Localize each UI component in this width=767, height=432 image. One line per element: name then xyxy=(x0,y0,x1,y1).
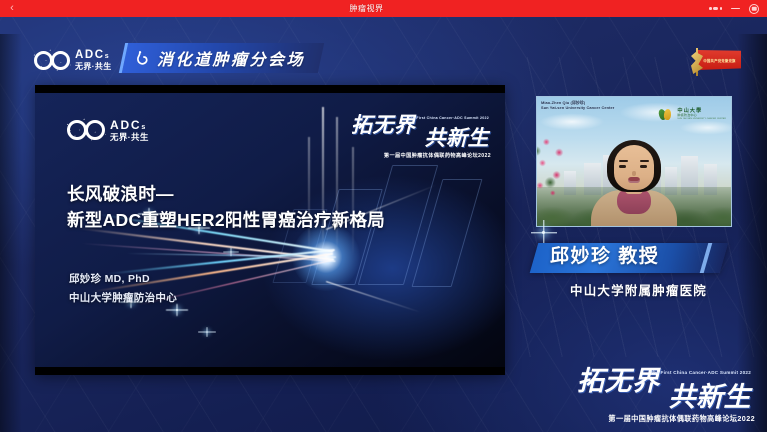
slide-logo-subtitle: 无界·共生 xyxy=(110,133,149,142)
slide-summit-brand: 拓无界 共新生 The First China Cancer·ADC Summi… xyxy=(345,115,491,159)
window-titlebar: ‹ 肿瘤视界 xyxy=(0,0,767,17)
university-name-en: SUN YAT-SEN UNIVERSITY CANCER CENTER xyxy=(677,118,726,121)
back-chevron-icon: ‹ xyxy=(10,3,14,14)
video-name-overlay: Miao-Zhen Qiu (邱妙珍) Sun Yat-sen Universi… xyxy=(541,100,614,111)
session-chip[interactable]: 消化道肿瘤分会场 xyxy=(119,43,324,73)
speaker-video-panel[interactable]: Miao-Zhen Qiu (邱妙珍) Sun Yat-sen Universi… xyxy=(536,96,732,227)
slide-logo-title: ADCs xyxy=(110,119,149,131)
slide-brand-line1: 拓无界 xyxy=(351,115,416,136)
left-vignette xyxy=(0,34,22,432)
infinity-icon xyxy=(34,51,70,70)
slide-speaker-org: 中山大学肿瘤防治中心 xyxy=(69,289,177,308)
more-options-icon[interactable] xyxy=(709,7,722,10)
back-button[interactable]: ‹ xyxy=(0,0,24,17)
event-logo: ADCs 无界·共生 xyxy=(34,50,112,71)
sun-yat-sen-logo-icon: 中山大學 肿瘤防治中心 SUN YAT-SEN UNIVERSITY CANCE… xyxy=(659,107,726,121)
event-header: ADCs 无界·共生 消化道肿瘤分会场 中国共产党党徽党旗 xyxy=(0,17,767,73)
speaker-figure xyxy=(588,142,680,226)
mouse-cursor-icon xyxy=(333,222,340,230)
flag-text: 中国共产党党徽党旗 xyxy=(703,58,735,63)
session-label: 消化道肿瘤分会场 xyxy=(157,46,305,70)
stomach-icon xyxy=(135,50,151,67)
slide-brand-english: The First China Cancer·ADC Summit 2022 xyxy=(408,116,489,120)
slide-speaker-name: 邱妙珍 MD, PhD xyxy=(69,270,177,289)
sparkle-icon xyxy=(542,231,545,234)
event-logo-title: ADCs xyxy=(75,50,112,62)
stage-backdrop: ADCs 无界·共生 消化道肿瘤分会场 中国共产党党徽党旗 xyxy=(0,17,767,432)
slide-brand-subtitle: 第一届中国肿瘤抗体偶联药物高峰论坛2022 xyxy=(345,152,491,159)
slide-brand-line2: 共新生 xyxy=(425,128,490,149)
corner-brand-line1: 拓无界 xyxy=(577,368,660,395)
video-flowers xyxy=(536,133,595,208)
corner-brand-subtitle: 第一届中国肿瘤抗体偶联药物高峰论坛2022 xyxy=(563,414,755,424)
slide-speaker-block: 邱妙珍 MD, PhD 中山大学肿瘤防治中心 xyxy=(69,270,177,309)
speaker-lower-third: 邱妙珍 教授 中山大学附属肿瘤医院 xyxy=(528,233,752,307)
presentation-slide[interactable]: ADCs 无界·共生 拓无界 共新生 The First China Cance… xyxy=(35,85,505,375)
slide-event-logo: ADCs 无界·共生 xyxy=(67,119,149,141)
lower-third-name: 邱妙珍 教授 xyxy=(550,247,659,266)
event-logo-subtitle: 无界·共生 xyxy=(75,63,112,71)
window-controls xyxy=(709,4,767,14)
close-icon[interactable] xyxy=(749,4,759,14)
video-overlay-org: Sun Yat-sen University Cancer Center xyxy=(541,105,614,110)
infinity-icon xyxy=(67,120,105,140)
red-flag-icon: 中国共产党党徽党旗 xyxy=(691,48,743,76)
minimize-icon[interactable] xyxy=(731,8,740,10)
light-burst-graphic xyxy=(326,257,327,258)
slide-title-line1: 长风破浪时— xyxy=(67,181,385,207)
corner-brand-line2: 共新生 xyxy=(669,384,752,411)
slide-canvas: ADCs 无界·共生 拓无界 共新生 The First China Cance… xyxy=(35,93,505,367)
corner-summit-brand: 拓无界 共新生 The First China Cancer·ADC Summi… xyxy=(563,368,755,424)
lower-third-organization: 中山大学附属肿瘤医院 xyxy=(570,280,707,299)
window-title: 肿瘤视界 xyxy=(24,3,709,14)
live-stream-window: ‹ 肿瘤视界 ADCs 无界·共生 xyxy=(0,0,767,432)
corner-brand-english: The First China Cancer·ADC Summit 2022 xyxy=(650,370,751,375)
